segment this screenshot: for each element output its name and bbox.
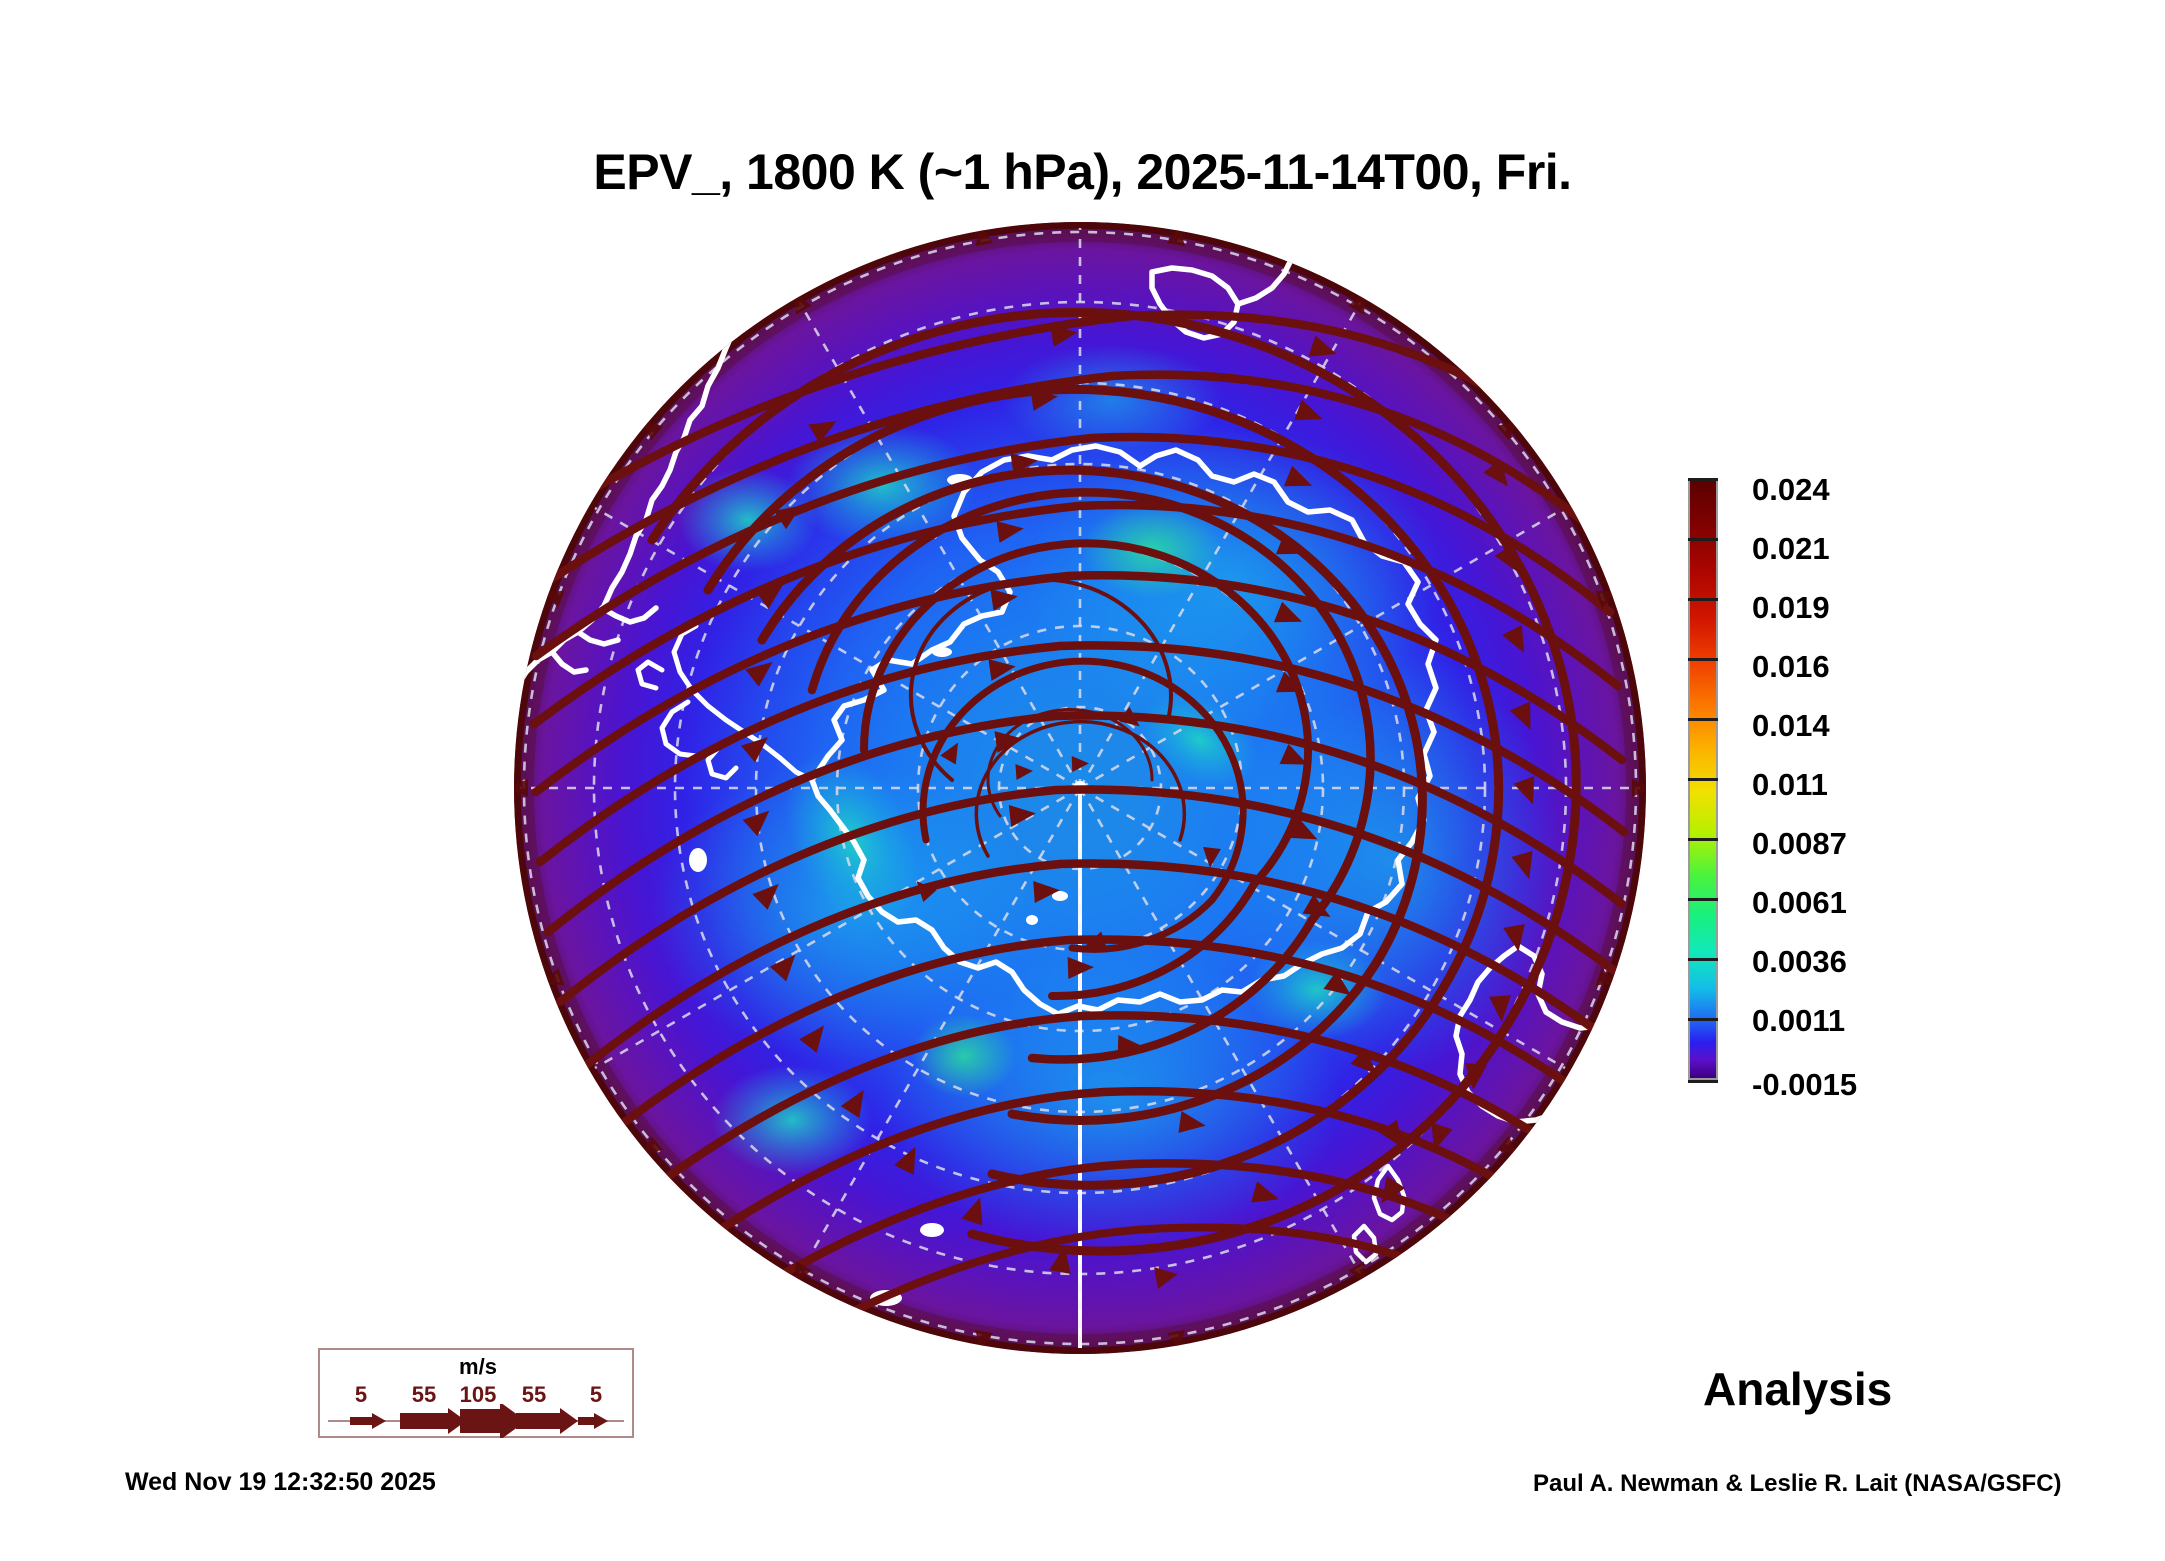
wind-speed-arrow-scale: [320, 1404, 632, 1438]
wind-speed-unit: m/s: [320, 1354, 636, 1380]
colorbar-label: 0.0087: [1752, 826, 1847, 862]
render-timestamp: Wed Nov 19 12:32:50 2025: [125, 1468, 436, 1497]
colorbar-tick: [1688, 658, 1718, 661]
colorbar-tick: [1688, 1080, 1718, 1083]
wind-speed-legend: m/s 5 55 105 55 5: [318, 1348, 634, 1438]
colorbar-tick: [1688, 538, 1718, 541]
colorbar-tick: [1688, 778, 1718, 781]
polar-stereographic-globe[interactable]: [512, 220, 1648, 1356]
analysis-label: Analysis: [1703, 1362, 1892, 1416]
colorbar-label: 0.024: [1752, 472, 1830, 508]
colorbar-tick: [1688, 958, 1718, 961]
colorbar-label: 0.0036: [1752, 944, 1847, 980]
colorbar-label: 0.0011: [1752, 1003, 1845, 1039]
colorbar-tick: [1688, 898, 1718, 901]
colorbar-label: 0.014: [1752, 708, 1830, 744]
colorbar-tick: [1688, 598, 1718, 601]
colorbar-label: 0.011: [1752, 767, 1828, 803]
colorbar-label: -0.0015: [1752, 1067, 1857, 1103]
colorbar-tick: [1688, 1018, 1718, 1021]
colorbar-label: 0.016: [1752, 649, 1830, 685]
colorbar-label: 0.019: [1752, 590, 1830, 626]
colorbar-label: 0.021: [1752, 531, 1830, 567]
author-credit: Paul A. Newman & Leslie R. Lait (NASA/GS…: [1533, 1470, 2062, 1498]
colorbar-label: 0.0061: [1752, 885, 1847, 921]
map-panel: [512, 220, 1652, 1356]
colorbar-tick: [1688, 838, 1718, 841]
page-title: EPV_, 1800 K (~1 hPa), 2025-11-14T00, Fr…: [0, 143, 2165, 201]
colorbar-tick: [1688, 718, 1718, 721]
colorbar-tick: [1688, 478, 1718, 481]
